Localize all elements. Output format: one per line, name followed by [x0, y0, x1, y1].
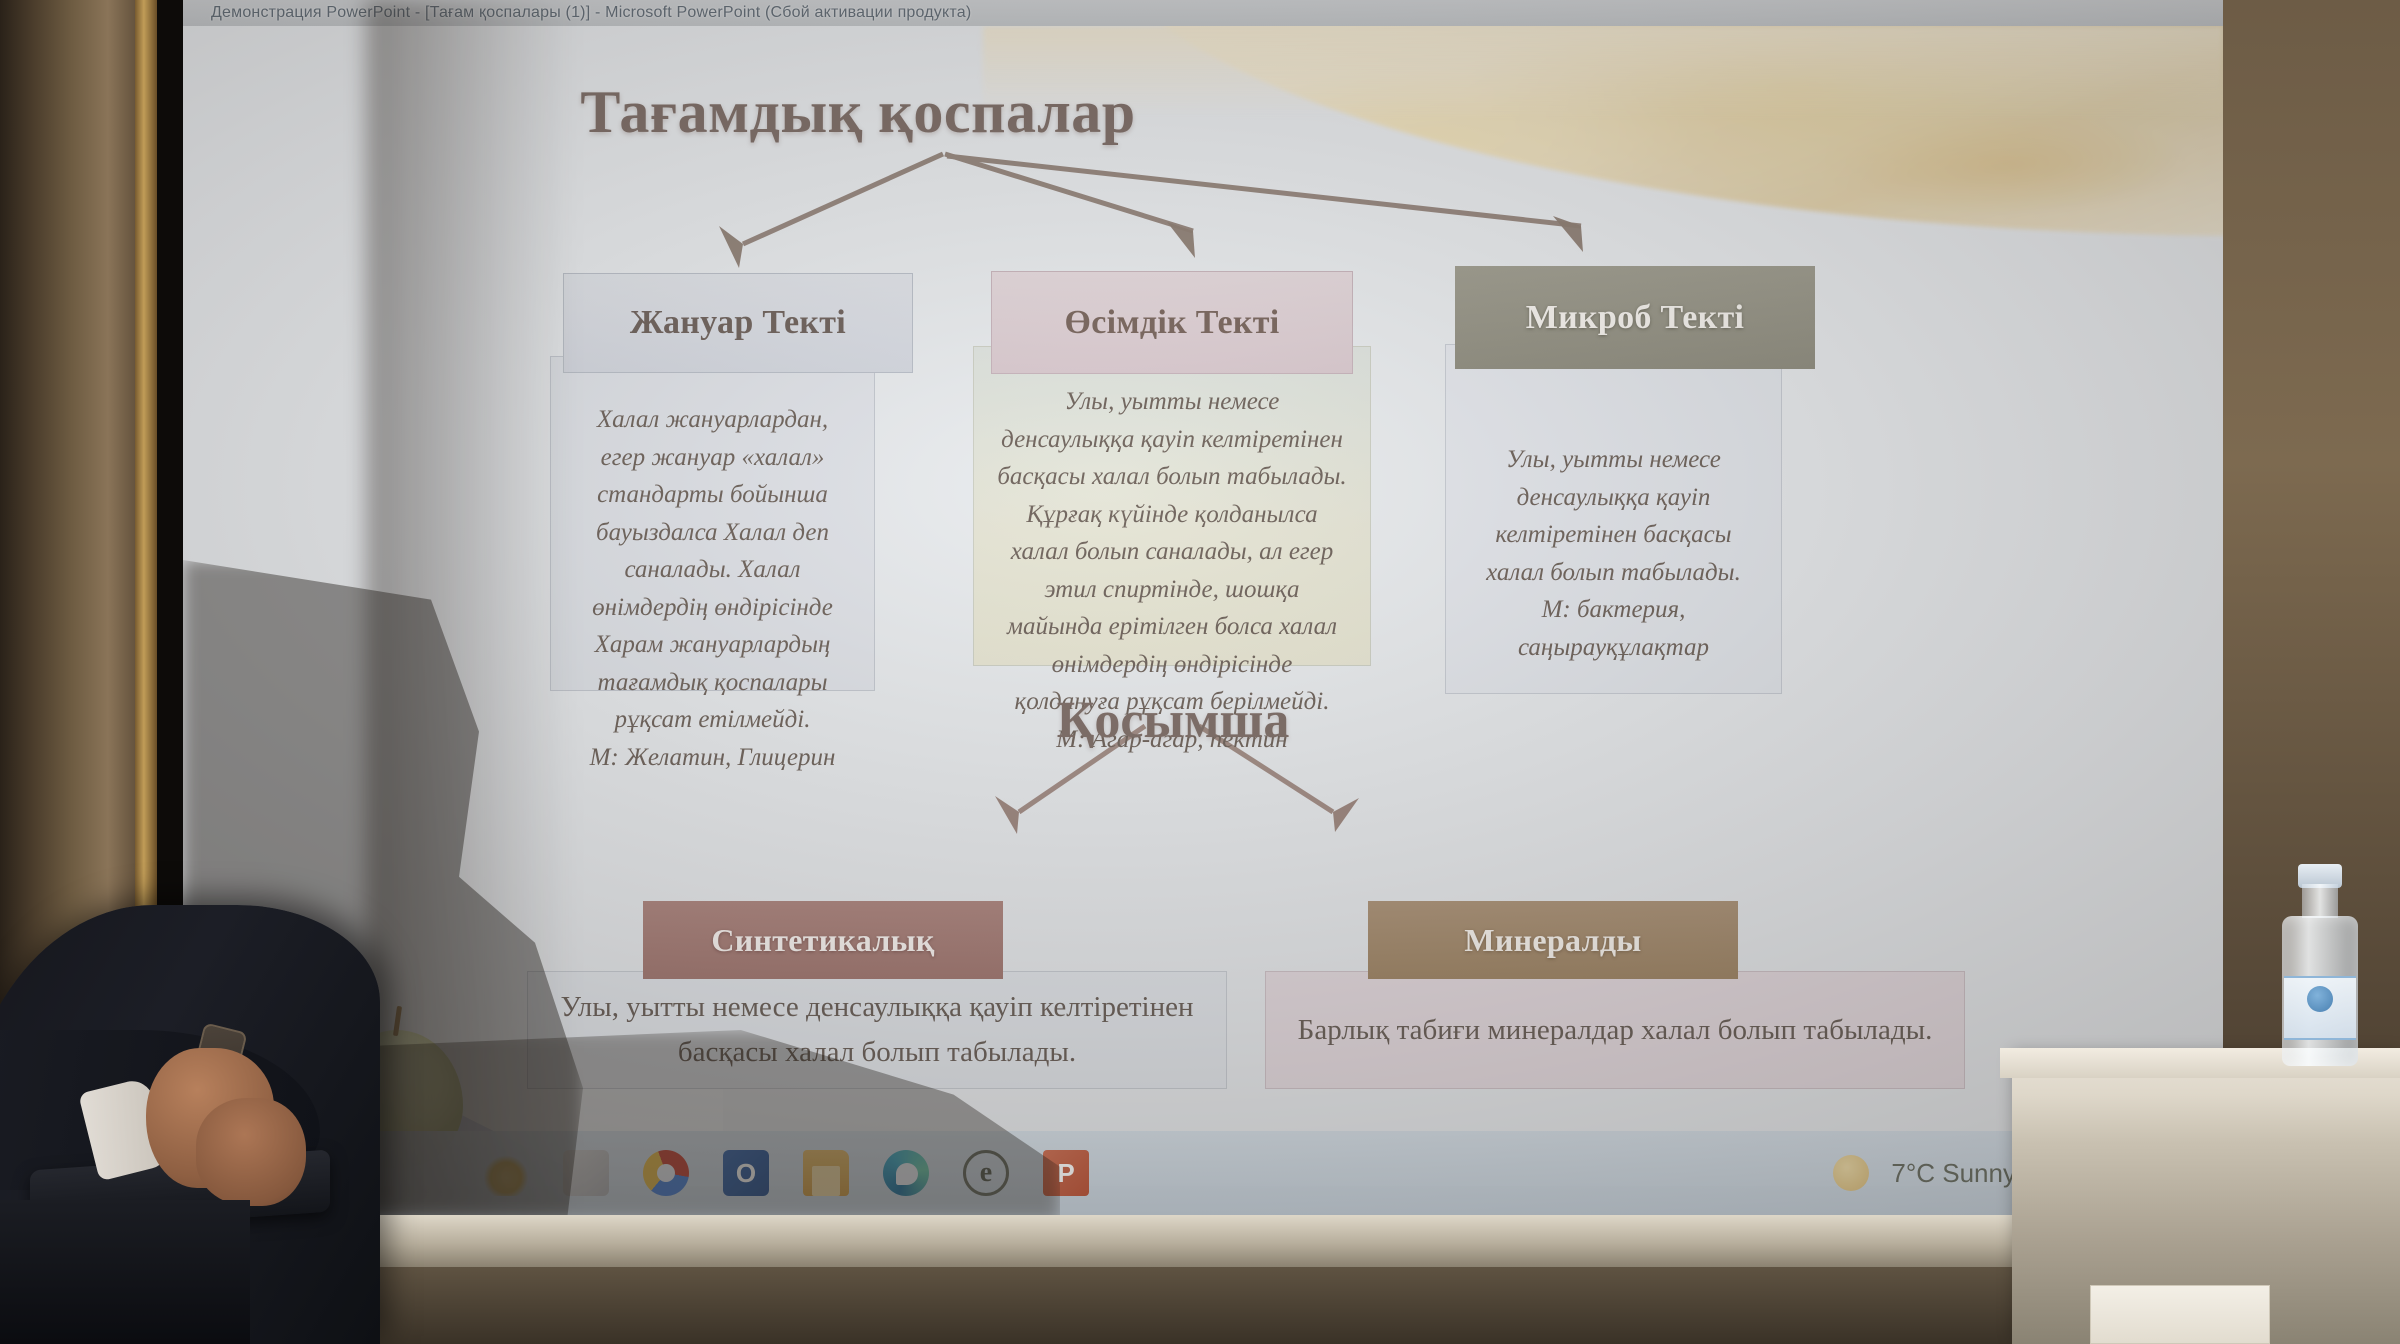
desk-paper [2090, 1285, 2270, 1344]
edge-icon[interactable] [883, 1150, 929, 1196]
card-animal-body: Халал жануарлардан, егер жануар «халал» … [592, 406, 833, 733]
card-animal-origin: Халал жануарлардан, егер жануар «халал» … [550, 356, 875, 691]
slide-subtitle-additives: Қосымша [983, 691, 1363, 750]
chip-plant-origin: Өсімдік Текті [991, 271, 1353, 374]
card-microbe-origin: Улы, уытты немесе денсаулыққа қауіп келт… [1445, 344, 1782, 694]
box-synthetic-text: Улы, уытты немесе денсаулыққа қауіп келт… [552, 985, 1202, 1075]
lecture-hall-photo: Демонстрация PowerPoint - [Тағам қоспала… [0, 0, 2400, 1344]
chrome-icon[interactable] [643, 1150, 689, 1196]
box-mineral-text: Барлық табиғи минералдар халал болып таб… [1298, 1008, 1933, 1053]
door-frame [135, 0, 157, 1344]
chip-animal-origin: Жануар Текті [563, 273, 913, 373]
card-animal-example: М: Желатин, Глицерин [590, 744, 836, 771]
bottle-label [2284, 976, 2356, 1040]
chip-microbe-origin: Микроб Текті [1455, 266, 1815, 369]
door-dark-gap [157, 0, 185, 1344]
water-bottle [2282, 866, 2358, 1066]
bottle-neck [2302, 884, 2338, 918]
copilot-icon[interactable] [483, 1150, 529, 1196]
chip-animal-label: Жануар Текті [630, 304, 846, 342]
chip-mineral-label: Минералды [1464, 922, 1641, 959]
card-microbe-body: Улы, уытты немесе денсаулыққа қауіп келт… [1486, 446, 1741, 586]
taskbar-app-list [183, 1150, 1089, 1196]
internet-explorer-icon[interactable] [963, 1150, 1009, 1196]
weather-label[interactable]: 7°C Sunny [1891, 1158, 2016, 1189]
folder-icon[interactable] [803, 1150, 849, 1196]
chip-plant-label: Өсімдік Текті [1065, 304, 1280, 342]
slide-title: Тағамдық қоспалар [183, 78, 1533, 147]
projection-screen: Демонстрация PowerPoint - [Тағам қоспала… [183, 0, 2223, 1215]
sun-icon [1833, 1155, 1869, 1191]
slide-canvas: Тағамдық қоспалар [183, 26, 2223, 1186]
box-synthetic-body: Улы, уытты немесе денсаулыққа қауіп келт… [527, 971, 1227, 1089]
card-plant-body: Улы, уытты немесе денсаулыққа қауіп келт… [997, 388, 1346, 715]
chip-synthetic-label: Синтетикалық [711, 922, 934, 959]
powerpoint-titlebar: Демонстрация PowerPoint - [Тағам қоспала… [183, 0, 2223, 26]
screen-ledge-shadow [183, 1267, 2223, 1344]
windows-taskbar[interactable]: 7°C Sunny ∧ [183, 1131, 2223, 1215]
outlook-icon[interactable] [723, 1150, 769, 1196]
screen-ledge [183, 1215, 2223, 1267]
chip-synthetic: Синтетикалық [643, 901, 1003, 979]
chip-microbe-label: Микроб Текті [1526, 299, 1745, 337]
card-microbe-example: М: бактерия, саңырауқұлақтар [1518, 596, 1709, 661]
powerpoint-icon[interactable] [1043, 1150, 1089, 1196]
file-explorer-icon[interactable] [563, 1150, 609, 1196]
card-plant-origin: Улы, уытты немесе денсаулыққа қауіп келт… [973, 346, 1371, 666]
chip-mineral: Минералды [1368, 901, 1738, 979]
box-mineral-body: Барлық табиғи минералдар халал болып таб… [1265, 971, 1965, 1089]
